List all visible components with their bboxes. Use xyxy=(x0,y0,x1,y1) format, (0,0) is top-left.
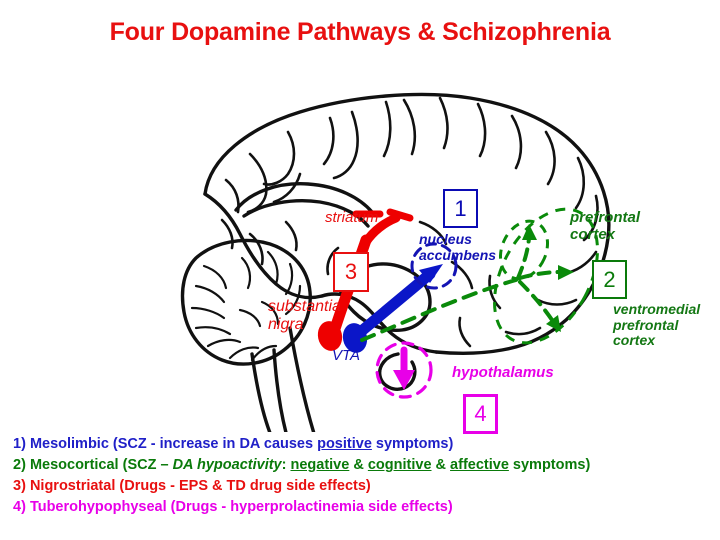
label-striatum: striatum xyxy=(325,210,378,227)
sulcus-16 xyxy=(538,300,576,305)
legend-2-post: symptoms) xyxy=(509,457,590,473)
sulcus-9 xyxy=(440,98,447,148)
legend-1-post: symptoms) xyxy=(372,436,453,452)
folium-13 xyxy=(240,310,260,326)
mesocortical-branch-up xyxy=(518,238,529,278)
folium-1 xyxy=(204,266,226,288)
legend-4-name: Tuberohypophyseal xyxy=(30,499,167,515)
sulcus-10 xyxy=(478,104,485,156)
sulcus-24 xyxy=(286,222,297,250)
tuberohypophyseal-pathway xyxy=(377,343,431,397)
folium-10 xyxy=(286,264,292,294)
pathway-number-box-1: 1 xyxy=(443,189,478,228)
sulcus-13 xyxy=(576,158,584,208)
legend-4-number: 4) xyxy=(13,499,26,515)
legend-2-italic: DA hypoactivity xyxy=(173,457,282,473)
legend-1-pre: (SCZ - increase in DA causes xyxy=(109,436,317,452)
legend-2-amp-1: & xyxy=(349,457,368,473)
pathway-number-box-4: 4 xyxy=(463,394,498,434)
pathway-legend: 1) Mesolimbic (SCZ - increase in DA caus… xyxy=(13,434,713,518)
folium-3 xyxy=(192,308,224,318)
sulcus-12 xyxy=(546,132,555,184)
label-nucleus-accumbens: nucleus accumbens xyxy=(419,232,496,263)
sulcus-6 xyxy=(334,112,358,178)
brain-diagram-svg xyxy=(0,62,720,432)
page-title: Four Dopamine Pathways & Schizophrenia xyxy=(0,18,720,47)
label-prefrontal-cortex: prefrontal cortex xyxy=(570,210,640,244)
folium-5 xyxy=(208,340,240,346)
legend-3-pre: (Drugs - EPS & TD drug side effects) xyxy=(115,478,370,494)
folium-4 xyxy=(196,327,230,334)
legend-2-amp-2: & xyxy=(432,457,451,473)
sulcus-5 xyxy=(324,118,333,164)
sulcus-3 xyxy=(264,132,294,185)
legend-item-tuberohypophyseal: 4) Tuberohypophyseal (Drugs - hyperprola… xyxy=(13,497,713,518)
brain-diagram: striatum substantia nigra nucleus accumb… xyxy=(0,62,720,432)
brainstem-left-edge xyxy=(252,354,272,432)
legend-2-number: 2) xyxy=(13,457,26,473)
legend-2-underline-affective: affective xyxy=(450,457,509,473)
mesocortical-branch-mid-arrowhead xyxy=(558,265,574,280)
sulcus-11 xyxy=(512,116,521,168)
mesocortical-branch-down xyxy=(520,282,552,320)
pathway-number-box-3: 3 xyxy=(333,252,369,292)
label-substantia-nigra: substantia nigra xyxy=(268,298,341,334)
sulcus-4 xyxy=(274,174,300,202)
legend-1-name: Mesolimbic xyxy=(30,436,109,452)
legend-3-name: Nigrostriatal xyxy=(30,478,115,494)
brainstem-mid-edge xyxy=(290,328,316,432)
legend-item-mesocortical: 2) Mesocortical (SCZ – DA hypoactivity: … xyxy=(13,455,713,476)
sulcus-18 xyxy=(459,318,470,346)
slide-canvas: Four Dopamine Pathways & Schizophrenia xyxy=(0,0,720,540)
folium-2 xyxy=(196,286,224,302)
label-hypothalamus: hypothalamus xyxy=(452,365,554,382)
legend-3-number: 3) xyxy=(13,478,26,494)
legend-2-name: Mesocortical xyxy=(30,457,119,473)
sulcus-17 xyxy=(506,328,540,334)
folium-8 xyxy=(242,258,250,288)
legend-4-pre: (Drugs - hyperprolactinemia side effects… xyxy=(167,499,453,515)
legend-2-underline-cognitive: cognitive xyxy=(368,457,432,473)
sulcus-7 xyxy=(384,102,390,156)
sulcus-8 xyxy=(404,100,415,154)
legend-1-number: 1) xyxy=(13,436,26,452)
label-vta: VTA xyxy=(332,348,360,365)
legend-2-underline-negative: negative xyxy=(290,457,349,473)
pathway-number-box-2: 2 xyxy=(592,260,627,299)
legend-1-underline: positive xyxy=(317,436,372,452)
legend-item-nigrostriatal: 3) Nigrostriatal (Drugs - EPS & TD drug … xyxy=(13,476,713,497)
legend-2-pre: (SCZ – xyxy=(119,457,173,473)
legend-item-mesolimbic: 1) Mesolimbic (SCZ - increase in DA caus… xyxy=(13,434,713,455)
label-ventromedial-prefrontal-cortex: ventromedial prefrontal cortex xyxy=(613,302,700,349)
ventral-forebrain-edge xyxy=(205,194,322,298)
brainstem-right-edge xyxy=(274,350,288,432)
mesocortical-branch-mid xyxy=(520,272,560,278)
